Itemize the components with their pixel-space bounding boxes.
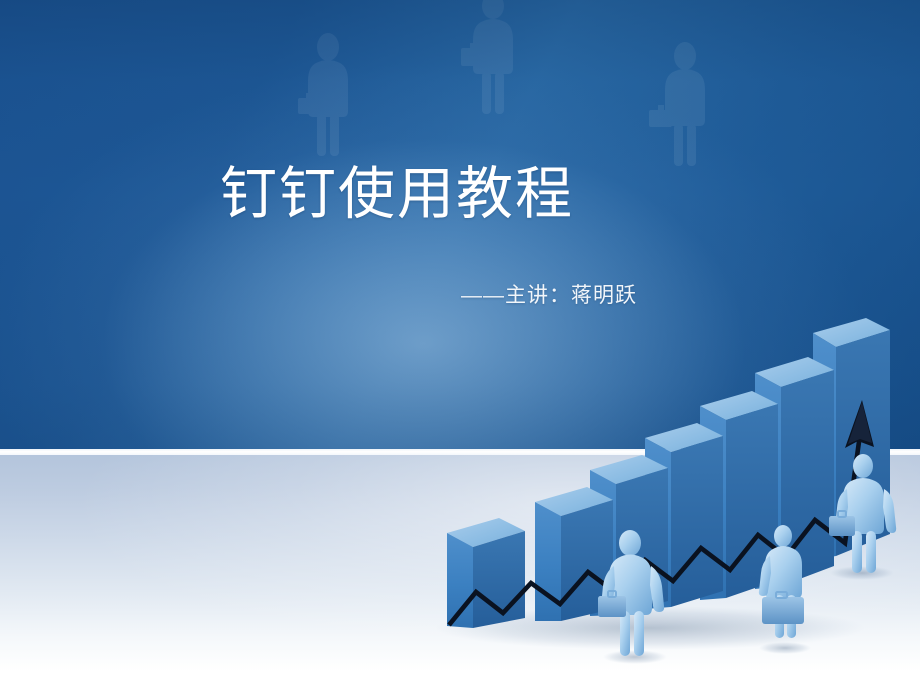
slide-title: 钉钉使用教程 xyxy=(220,163,574,227)
presentation-slide: 钉钉使用教程 ——主讲：蒋明跃 xyxy=(0,0,920,690)
businessman-silhouette-left-watermark-icon xyxy=(296,30,366,160)
businessman-silhouette-center-watermark-icon xyxy=(455,0,529,120)
slide-background-floor xyxy=(0,455,920,690)
businessman-silhouette-right-watermark-icon xyxy=(645,40,717,170)
slide-subtitle-presenter: ——主讲：蒋明跃 xyxy=(461,283,637,308)
